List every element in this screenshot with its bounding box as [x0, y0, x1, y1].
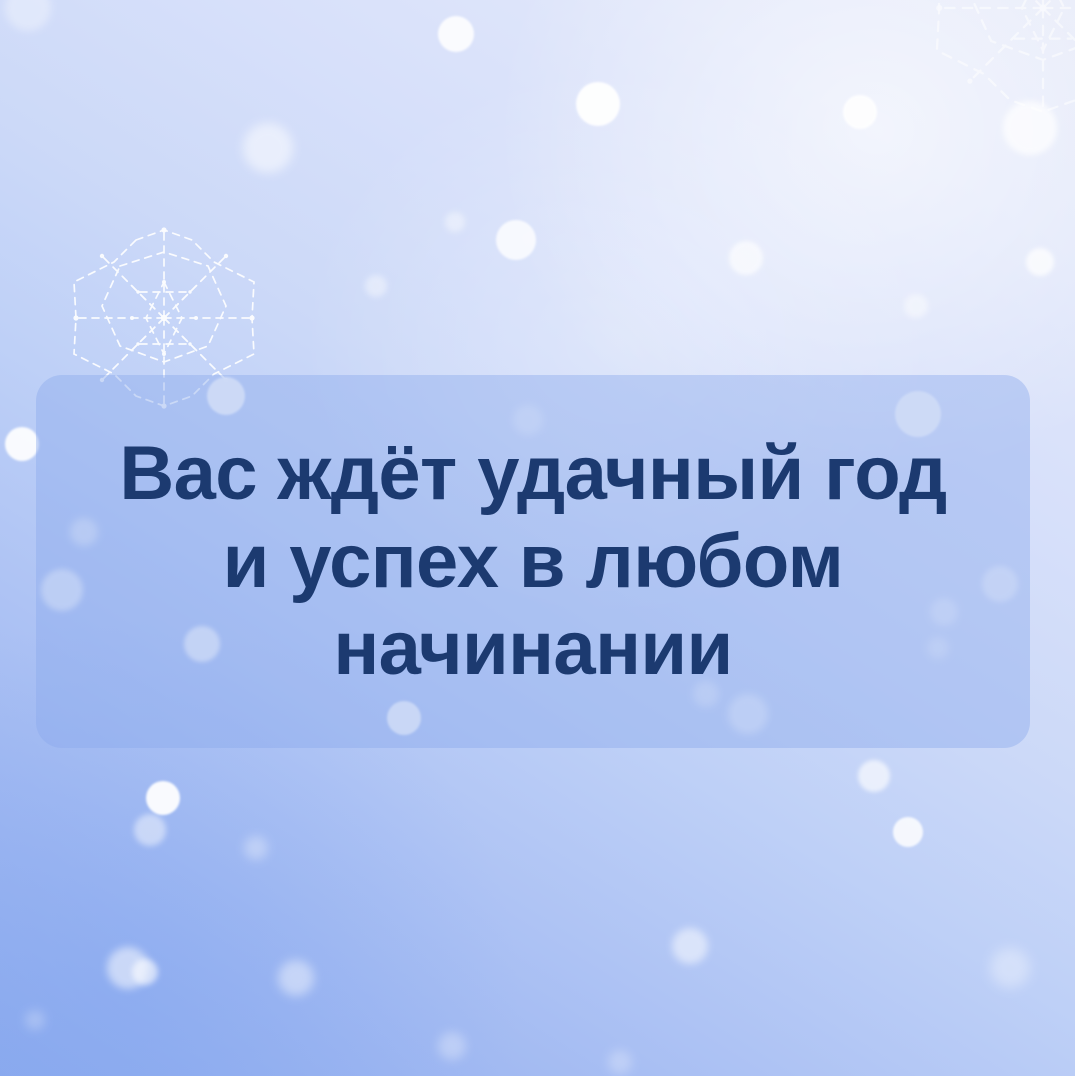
bokeh-dot	[278, 960, 314, 996]
bokeh-dot	[1003, 101, 1057, 155]
bokeh-dot	[134, 814, 166, 846]
bokeh-dot	[107, 947, 149, 989]
bokeh-dot	[843, 95, 877, 129]
bokeh-dot	[146, 781, 180, 815]
snowflake-icon	[918, 0, 1075, 124]
bokeh-dot	[496, 220, 536, 260]
bokeh-dot	[904, 294, 928, 318]
bokeh-dot	[608, 1050, 632, 1074]
bokeh-dot	[244, 836, 268, 860]
bokeh-dot	[858, 760, 890, 792]
bokeh-dot	[672, 928, 708, 964]
greeting-poster: Вас ждёт удачный год и успех в любом нач…	[0, 0, 1075, 1076]
bokeh-dot	[365, 275, 387, 297]
bokeh-dot	[132, 959, 158, 985]
bokeh-dot	[445, 212, 465, 232]
bokeh-dot	[25, 1010, 45, 1030]
bokeh-dot	[1026, 248, 1054, 276]
bokeh-dot	[893, 817, 923, 847]
bokeh-dot	[243, 123, 293, 173]
bokeh-dot	[5, 0, 51, 31]
bokeh-dot	[729, 241, 763, 275]
bokeh-dot	[438, 16, 474, 52]
bokeh-dot	[576, 82, 620, 126]
page-title: Вас ждёт удачный год и успех в любом нач…	[36, 430, 1030, 692]
bokeh-dot	[5, 427, 39, 461]
bokeh-dot	[990, 948, 1030, 988]
bokeh-dot	[438, 1032, 466, 1060]
headline-card: Вас ждёт удачный год и успех в любом нач…	[36, 375, 1030, 748]
